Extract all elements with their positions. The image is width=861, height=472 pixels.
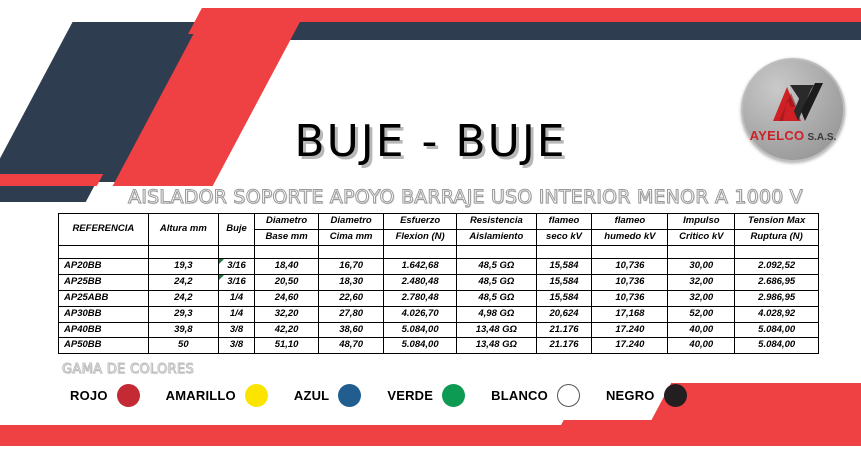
cell-diametro-cima-mm: 48,70 xyxy=(319,338,384,354)
table-row: AP25ABB24,21/424,6022,602.780,4848,5 GΩ1… xyxy=(59,290,819,306)
table-row: AP50BB503/851,1048,705.084,0013,48 GΩ21.… xyxy=(59,338,819,354)
cell-impulso-critico-kv: 30,00 xyxy=(668,258,735,274)
spec-table-body: AP20BB19,33/1618,4016,701.642,6848,5 GΩ1… xyxy=(59,245,819,354)
cell-diametro-cima-mm: 16,70 xyxy=(319,258,384,274)
header-row-top: REFERENCIA Altura mm Buje Diametro Diame… xyxy=(59,214,819,230)
color-swatch-dot xyxy=(664,384,687,407)
cell-impulso-critico-kv: 40,00 xyxy=(668,338,735,354)
cell-resistencia-aislamiento: 48,5 GΩ xyxy=(457,290,536,306)
col-header-diametro-cima-top: Diametro xyxy=(319,214,384,230)
cell-referencia: AP25BB xyxy=(59,274,149,290)
col-header-esfuerzo-top: Esfuerzo xyxy=(384,214,457,230)
cell-flameo-humedo-kv: 10,736 xyxy=(592,258,668,274)
color-swatch-dot xyxy=(338,384,361,407)
col-header-aislamiento: Aislamiento xyxy=(457,229,536,245)
cell-altura-mm: 50 xyxy=(148,338,218,354)
cell-impulso-critico-kv: 32,00 xyxy=(668,274,735,290)
table-row: AP30BB29,31/432,2027,804.026,704,98 GΩ20… xyxy=(59,306,819,322)
cell-diametro-base-mm: 51,10 xyxy=(254,338,318,354)
cell-altura-mm: 24,2 xyxy=(148,274,218,290)
cell-flameo-humedo-kv: 17.240 xyxy=(592,322,668,338)
color-swatch-item: AMARILLO xyxy=(166,384,268,407)
cell-altura-mm: 29,3 xyxy=(148,306,218,322)
color-swatch-item: AZUL xyxy=(294,384,361,407)
cell-flameo-seco-kv: 20,624 xyxy=(536,306,592,322)
cell-tension-max-ruptura-n: 2.686,95 xyxy=(735,274,819,290)
cell-flameo-humedo-kv: 10,736 xyxy=(592,274,668,290)
cell-altura-mm: 24,2 xyxy=(148,290,218,306)
color-swatch-dot xyxy=(557,384,580,407)
cell-esfuerzo-flexion-n: 1.642,68 xyxy=(384,258,457,274)
col-header-tension-max-top: Tension Max xyxy=(735,214,819,230)
color-swatch-item: ROJO xyxy=(70,384,140,407)
color-swatch-label: VERDE xyxy=(387,388,433,403)
cell-referencia: AP20BB xyxy=(59,258,149,274)
cell-buje: 3/8 xyxy=(219,322,255,338)
cell-buje: 3/16 xyxy=(219,258,255,274)
cell-resistencia-aislamiento: 13,48 GΩ xyxy=(457,338,536,354)
cell-diametro-base-mm: 18,40 xyxy=(254,258,318,274)
cell-esfuerzo-flexion-n: 2.780,48 xyxy=(384,290,457,306)
col-header-flameo-humedo-top: flameo xyxy=(592,214,668,230)
cell-esfuerzo-flexion-n: 4.026,70 xyxy=(384,306,457,322)
table-row: AP25BB24,23/1620,5018,302.480,4848,5 GΩ1… xyxy=(59,274,819,290)
cell-tension-max-ruptura-n: 2.092,52 xyxy=(735,258,819,274)
cell-flameo-humedo-kv: 17.240 xyxy=(592,338,668,354)
cell-tension-max-ruptura-n: 4.028,92 xyxy=(735,306,819,322)
cell-impulso-critico-kv: 52,00 xyxy=(668,306,735,322)
cell-tension-max-ruptura-n: 2.986,95 xyxy=(735,290,819,306)
cell-resistencia-aislamiento: 13,48 GΩ xyxy=(457,322,536,338)
color-swatch-label: NEGRO xyxy=(606,388,655,403)
decor-red-band-bottom xyxy=(0,425,861,446)
col-header-cima-mm: Cima mm xyxy=(319,229,384,245)
spec-table-container: REFERENCIA Altura mm Buje Diametro Diame… xyxy=(58,213,819,354)
color-swatch-label: AMARILLO xyxy=(166,388,236,403)
cell-referencia: AP25ABB xyxy=(59,290,149,306)
cell-diametro-cima-mm: 18,30 xyxy=(319,274,384,290)
cell-referencia: AP30BB xyxy=(59,306,149,322)
cell-buje: 1/4 xyxy=(219,290,255,306)
cell-altura-mm: 19,3 xyxy=(148,258,218,274)
col-header-base-mm: Base mm xyxy=(254,229,318,245)
cell-flameo-seco-kv: 15,584 xyxy=(536,290,592,306)
cell-diametro-base-mm: 24,60 xyxy=(254,290,318,306)
page-title: BUJE - BUJE xyxy=(0,116,861,167)
cell-flameo-seco-kv: 21.176 xyxy=(536,322,592,338)
cell-flameo-seco-kv: 15,584 xyxy=(536,258,592,274)
col-header-buje: Buje xyxy=(219,214,255,246)
color-range-label: GAMA DE COLORES xyxy=(62,362,194,377)
spec-table-head: REFERENCIA Altura mm Buje Diametro Diame… xyxy=(59,214,819,246)
comment-marker-icon xyxy=(219,275,224,280)
page-subtitle: AISLADOR SOPORTE APOYO BARRAJE USO INTER… xyxy=(128,186,803,208)
col-header-ruptura-n: Ruptura (N) xyxy=(735,229,819,245)
color-swatch-label: BLANCO xyxy=(491,388,548,403)
cell-impulso-critico-kv: 40,00 xyxy=(668,322,735,338)
cell-tension-max-ruptura-n: 5.084,00 xyxy=(735,338,819,354)
color-swatch-dot xyxy=(117,384,140,407)
slide-canvas: AYELCO S.A.S. BUJE - BUJE AISLADOR SOPOR… xyxy=(0,0,861,472)
cell-tension-max-ruptura-n: 5.084,00 xyxy=(735,322,819,338)
col-header-referencia: REFERENCIA xyxy=(59,214,149,246)
cell-esfuerzo-flexion-n: 5.084,00 xyxy=(384,338,457,354)
cell-esfuerzo-flexion-n: 2.480,48 xyxy=(384,274,457,290)
color-swatch-item: BLANCO xyxy=(491,384,580,407)
cell-resistencia-aislamiento: 48,5 GΩ xyxy=(457,258,536,274)
col-header-impulso-top: Impulso xyxy=(668,214,735,230)
cell-diametro-cima-mm: 22,60 xyxy=(319,290,384,306)
cell-diametro-base-mm: 32,20 xyxy=(254,306,318,322)
color-swatch-item: NEGRO xyxy=(606,384,687,407)
col-header-critico-kv: Critico kV xyxy=(668,229,735,245)
decor-navy-band-top xyxy=(235,22,861,40)
color-swatch-dot xyxy=(245,384,268,407)
col-header-humedo-kv: humedo kV xyxy=(592,229,668,245)
col-header-flameo-seco-top: flameo xyxy=(536,214,592,230)
col-header-altura: Altura mm xyxy=(148,214,218,246)
cell-referencia: AP40BB xyxy=(59,322,149,338)
cell-flameo-humedo-kv: 10,736 xyxy=(592,290,668,306)
color-swatch-list: ROJOAMARILLOAZULVERDEBLANCONEGRO xyxy=(70,384,713,407)
cell-resistencia-aislamiento: 4,98 GΩ xyxy=(457,306,536,322)
cell-diametro-cima-mm: 27,80 xyxy=(319,306,384,322)
cell-flameo-humedo-kv: 17,168 xyxy=(592,306,668,322)
cell-buje: 1/4 xyxy=(219,306,255,322)
col-header-flexion-n: Flexion (N) xyxy=(384,229,457,245)
decor-red-bar-left xyxy=(0,174,103,186)
color-swatch-item: VERDE xyxy=(387,384,465,407)
spec-table: REFERENCIA Altura mm Buje Diametro Diame… xyxy=(58,213,819,354)
table-row: AP20BB19,33/1618,4016,701.642,6848,5 GΩ1… xyxy=(59,258,819,274)
cell-resistencia-aislamiento: 48,5 GΩ xyxy=(457,274,536,290)
cell-altura-mm: 39,8 xyxy=(148,322,218,338)
spacer-row xyxy=(59,245,819,258)
col-header-seco-kv: seco kV xyxy=(536,229,592,245)
cell-flameo-seco-kv: 15,584 xyxy=(536,274,592,290)
cell-diametro-base-mm: 20,50 xyxy=(254,274,318,290)
cell-impulso-critico-kv: 32,00 xyxy=(668,290,735,306)
color-swatch-label: AZUL xyxy=(294,388,329,403)
table-row: AP40BB39,83/842,2038,605.084,0013,48 GΩ2… xyxy=(59,322,819,338)
cell-buje: 3/16 xyxy=(219,274,255,290)
col-header-diametro-base-top: Diametro xyxy=(254,214,318,230)
cell-diametro-cima-mm: 38,60 xyxy=(319,322,384,338)
cell-buje: 3/8 xyxy=(219,338,255,354)
color-swatch-label: ROJO xyxy=(70,388,108,403)
comment-marker-icon xyxy=(219,259,224,264)
col-header-resistencia-top: Resistencia xyxy=(457,214,536,230)
cell-referencia: AP50BB xyxy=(59,338,149,354)
cell-diametro-base-mm: 42,20 xyxy=(254,322,318,338)
cell-flameo-seco-kv: 21.176 xyxy=(536,338,592,354)
decor-navy-bar-left xyxy=(0,186,94,202)
cell-esfuerzo-flexion-n: 5.084,00 xyxy=(384,322,457,338)
color-swatch-dot xyxy=(442,384,465,407)
